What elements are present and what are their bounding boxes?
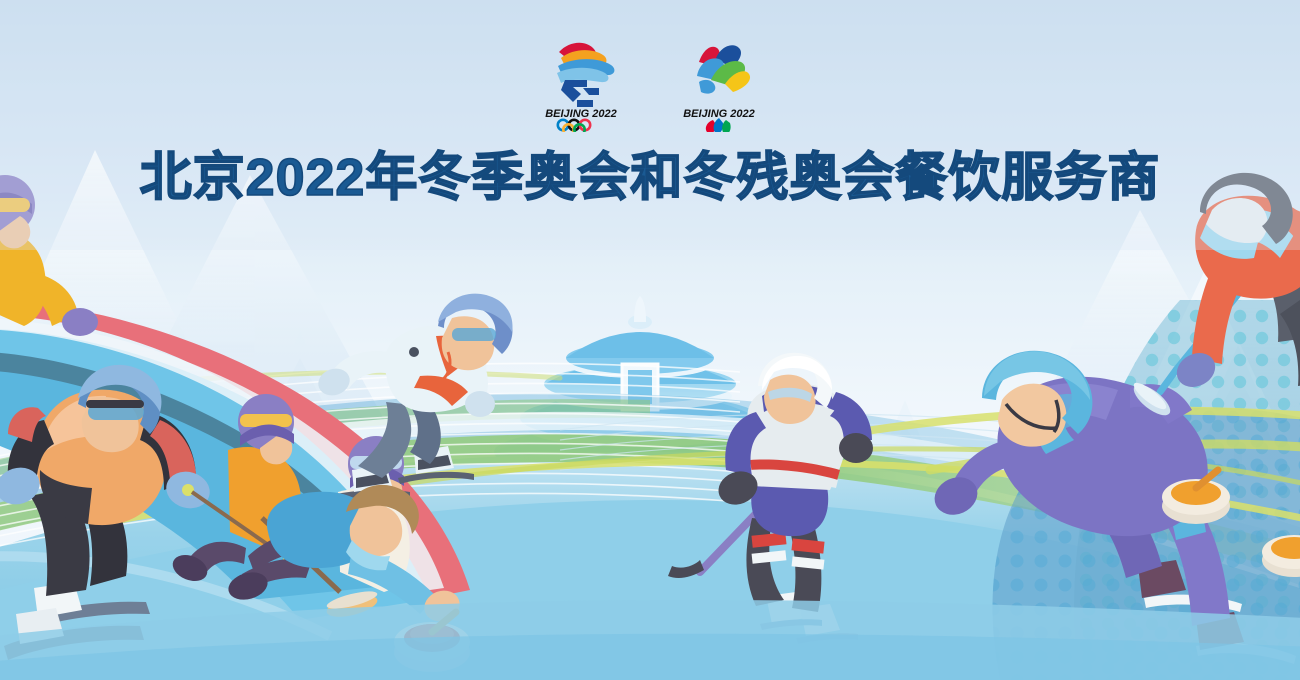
beijing-2022-olympic-emblem: BEIJING 2022 — [531, 28, 631, 132]
winter-olympics-banner: BEIJING 2022 — [0, 0, 1300, 680]
agitos-icon — [706, 118, 731, 132]
olympic-rings-icon — [558, 120, 590, 132]
olympic-emblem-svg: BEIJING 2022 — [531, 28, 631, 132]
emblem-row: BEIJING 2022 — [0, 28, 1300, 138]
beijing-2022-paralympic-emblem: BEIJING 2022 — [669, 28, 769, 132]
paralympic-emblem-svg: BEIJING 2022 — [669, 28, 769, 132]
olympic-dong-logo — [557, 43, 614, 107]
olympic-wordmark: BEIJING 2022 — [545, 108, 617, 120]
page-title: 北京2022年冬季奥会和冬残奥会餐饮服务商 — [0, 142, 1300, 214]
paralympic-fei-logo — [697, 45, 750, 93]
